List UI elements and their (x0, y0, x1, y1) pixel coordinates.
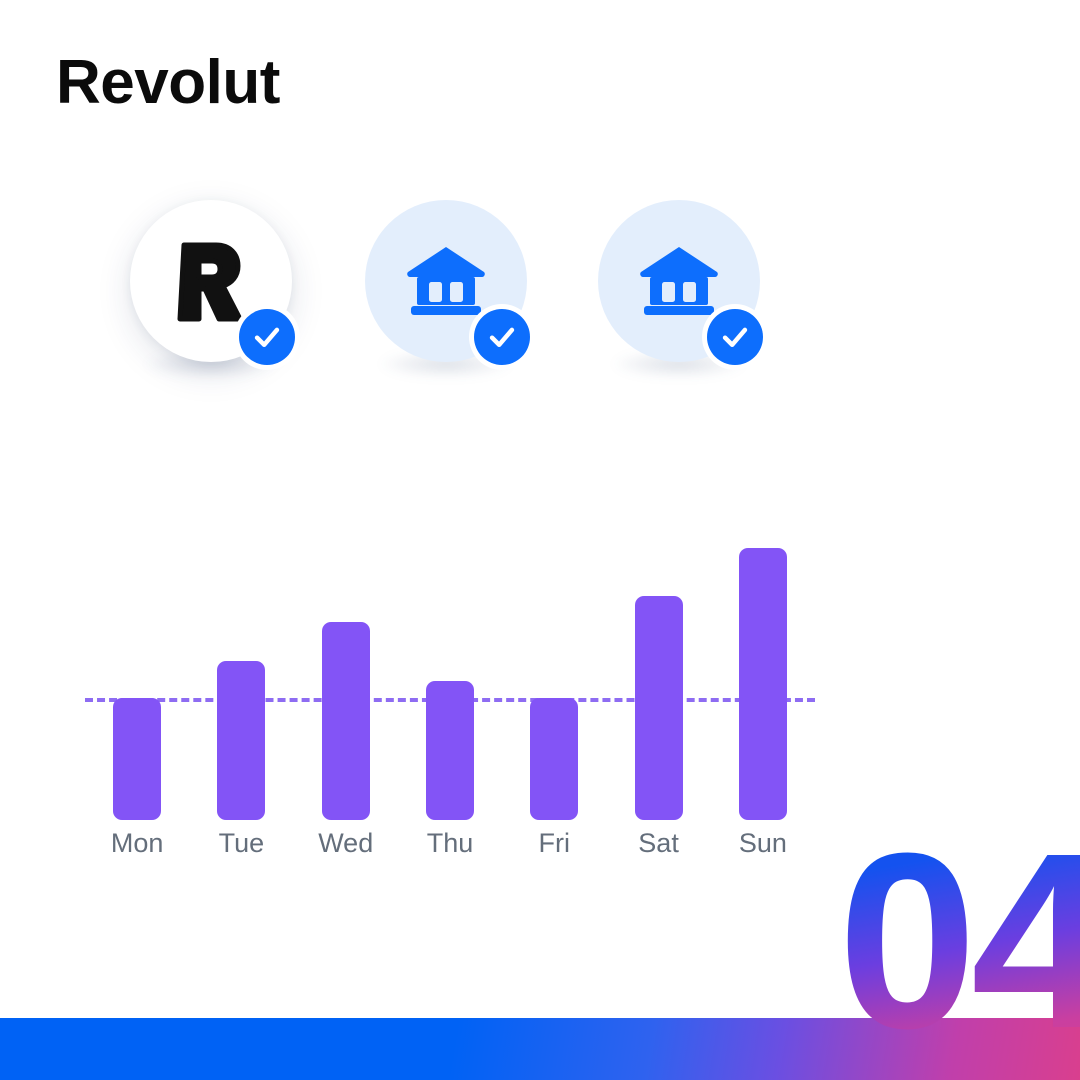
check-icon (250, 320, 284, 354)
revolut-r-icon (174, 241, 248, 323)
account-item-bank-1[interactable] (365, 200, 527, 362)
account-item-bank-2[interactable] (598, 200, 760, 362)
verified-badge (702, 304, 768, 370)
verified-badge-circle (474, 309, 530, 365)
chart-bar (426, 681, 474, 820)
chart-bar (739, 548, 787, 820)
check-icon (718, 320, 752, 354)
chart-x-label: Tue (189, 828, 293, 859)
chart-bar (113, 698, 161, 820)
chart-bar (635, 596, 683, 820)
chart-plot-area: MonTueWedThuFriSatSun (85, 540, 815, 820)
chart-x-label: Mon (85, 828, 189, 859)
linked-accounts-group (0, 200, 1080, 400)
check-icon (485, 320, 519, 354)
bank-icon (638, 244, 720, 318)
verified-badge (234, 304, 300, 370)
chart-x-label: Sun (711, 828, 815, 859)
chart-x-label: Wed (294, 828, 398, 859)
poster-canvas: Revolut (0, 0, 1080, 1080)
verified-badge-circle (707, 309, 763, 365)
chart-bar (217, 661, 265, 820)
chart-x-label: Thu (398, 828, 502, 859)
brand-wordmark: Revolut (56, 52, 280, 114)
chart-x-label: Fri (502, 828, 606, 859)
account-item-revolut[interactable] (130, 200, 292, 362)
verified-badge (469, 304, 535, 370)
slide-number: 04 (838, 816, 1080, 1066)
chart-bar (530, 698, 578, 820)
bank-icon (405, 244, 487, 318)
verified-badge-circle (239, 309, 295, 365)
chart-bar (322, 622, 370, 820)
chart-x-label: Sat (606, 828, 710, 859)
